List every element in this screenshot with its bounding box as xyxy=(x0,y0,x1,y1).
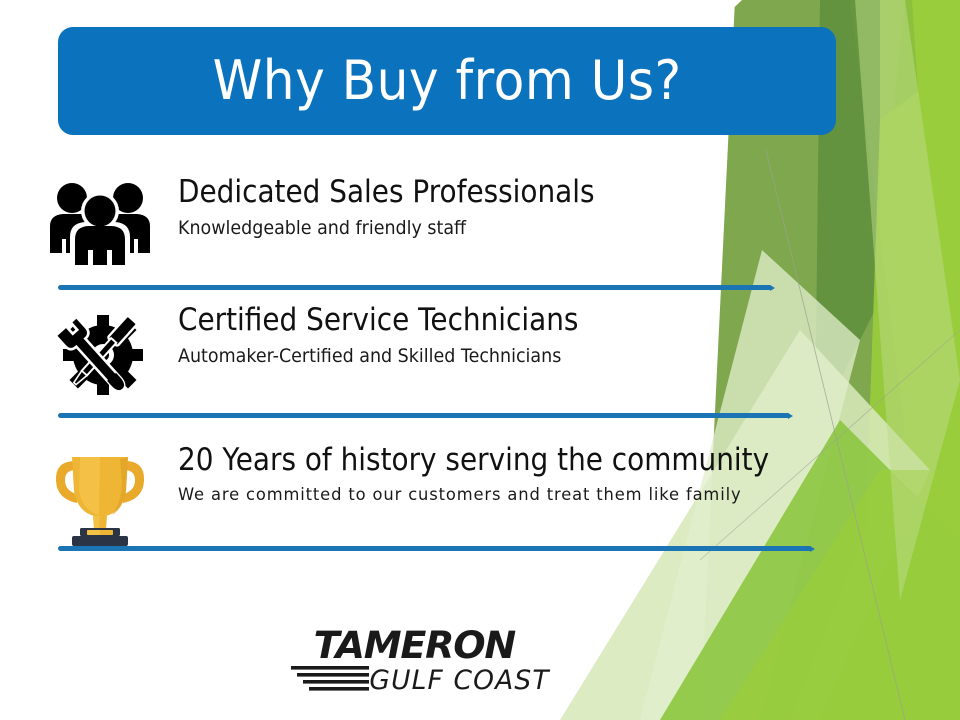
feature-subtitle: Automaker-Certified and Skilled Technici… xyxy=(178,345,897,368)
feature-row-sales: Dedicated Sales Professionals Knowledgea… xyxy=(0,175,960,265)
feature-title: Dedicated Sales Professionals xyxy=(178,175,882,211)
feature-title: Certified Service Technicians xyxy=(178,303,882,339)
logo-tagline: GULF COAST xyxy=(369,665,551,696)
page-title: Why Buy from Us? xyxy=(212,54,681,108)
slide-canvas: Why Buy from Us? xyxy=(0,0,960,720)
feature-row-service: Certified Service Technicians Automaker-… xyxy=(0,303,960,401)
gear-wrench-screwdriver-icon xyxy=(40,303,160,401)
feature-row-history: 20 Years of history serving the communit… xyxy=(0,443,960,549)
feature-subtitle: Knowledgeable and friendly staff xyxy=(178,217,897,240)
feature-title: 20 Years of history serving the communit… xyxy=(178,443,882,479)
tameron-gulf-coast-logo: TAMERON GULF COAST TAMERON GULF COAST xyxy=(291,622,563,697)
feature-subtitle: We are committed to our customers and tr… xyxy=(178,485,929,505)
feature-list: Dedicated Sales Professionals Knowledgea… xyxy=(0,175,960,549)
logo-stripes xyxy=(291,666,369,691)
logo-wordmark: TAMERON xyxy=(314,624,516,667)
slide-title-banner: Why Buy from Us? xyxy=(58,27,836,135)
trophy-icon xyxy=(40,443,160,549)
people-group-icon xyxy=(40,175,160,265)
